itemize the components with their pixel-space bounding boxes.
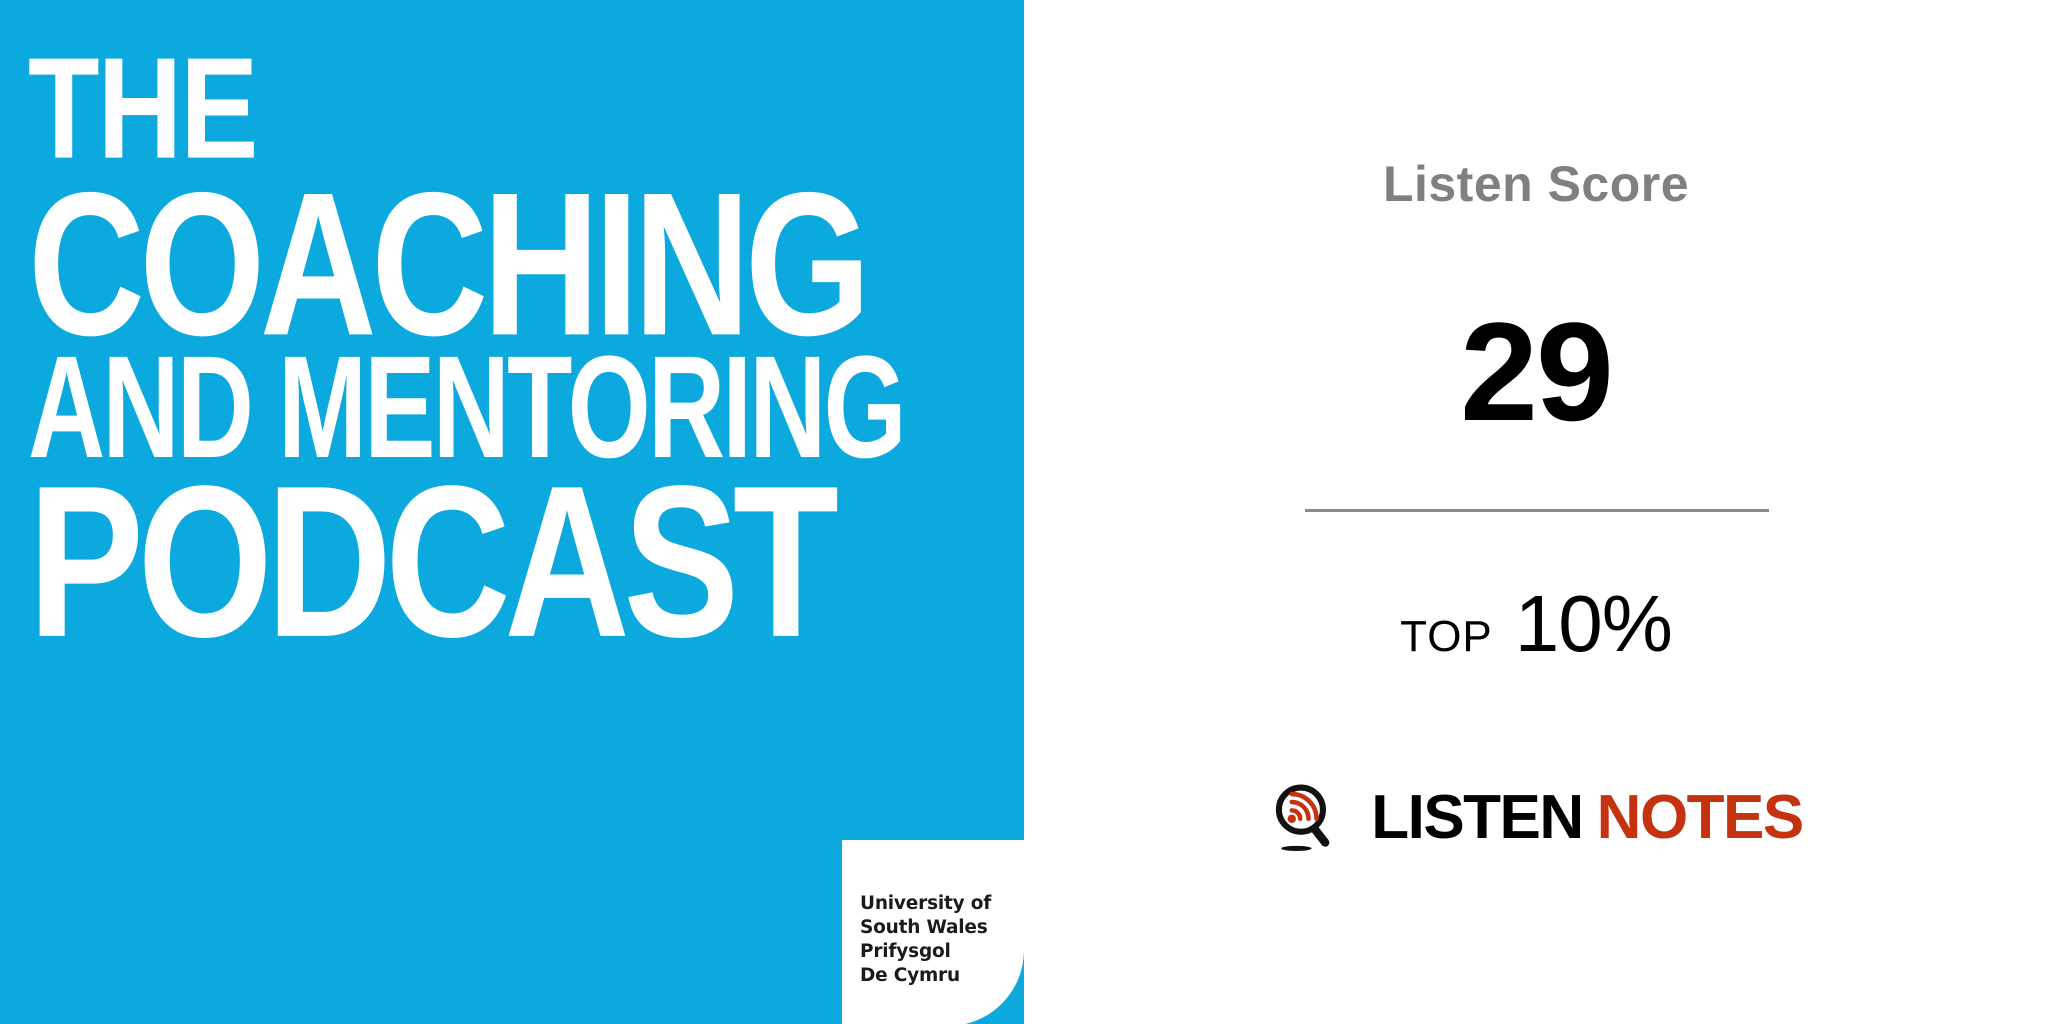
score-divider: [1305, 509, 1769, 512]
listen-notes-brand[interactable]: LISTENNOTES: [1024, 780, 2048, 856]
podcast-cover-art: THE COACHING AND MENTORING PODCAST Unive…: [0, 0, 1024, 1024]
university-logo-text: University of South Wales Prifysgol De C…: [860, 892, 991, 988]
listen-notes-word-listen: LISTEN: [1371, 783, 1582, 852]
cover-title-line-4: PODCAST: [28, 463, 944, 661]
university-logo-line-1: University of: [860, 892, 991, 916]
global-rank-prefix: TOP: [1400, 612, 1493, 661]
university-logo-line-3: Prifysgol: [860, 940, 991, 964]
university-logo-line-4: De Cymru: [860, 964, 991, 988]
university-logo-line-2: South Wales: [860, 916, 991, 940]
listen-notes-word-notes: NOTES: [1597, 783, 1803, 852]
listen-score-value: 29: [1024, 302, 2048, 442]
listen-notes-wordmark: LISTENNOTES: [1371, 787, 1803, 849]
university-of-south-wales-logo: University of South Wales Prifysgol De C…: [842, 840, 1024, 1024]
listen-score-label: Listen Score: [1024, 155, 2048, 213]
listen-score-card: THE COACHING AND MENTORING PODCAST Unive…: [0, 0, 2048, 1024]
listen-score-panel: Listen Score 29 TOP10% LISTENNOTES: [1024, 0, 2048, 1024]
global-rank-value: 10%: [1515, 579, 1672, 668]
magnifying-glass-rss-icon: [1269, 780, 1345, 856]
global-rank: TOP10%: [1024, 578, 2048, 670]
podcast-title: THE COACHING AND MENTORING PODCAST: [28, 42, 1008, 634]
